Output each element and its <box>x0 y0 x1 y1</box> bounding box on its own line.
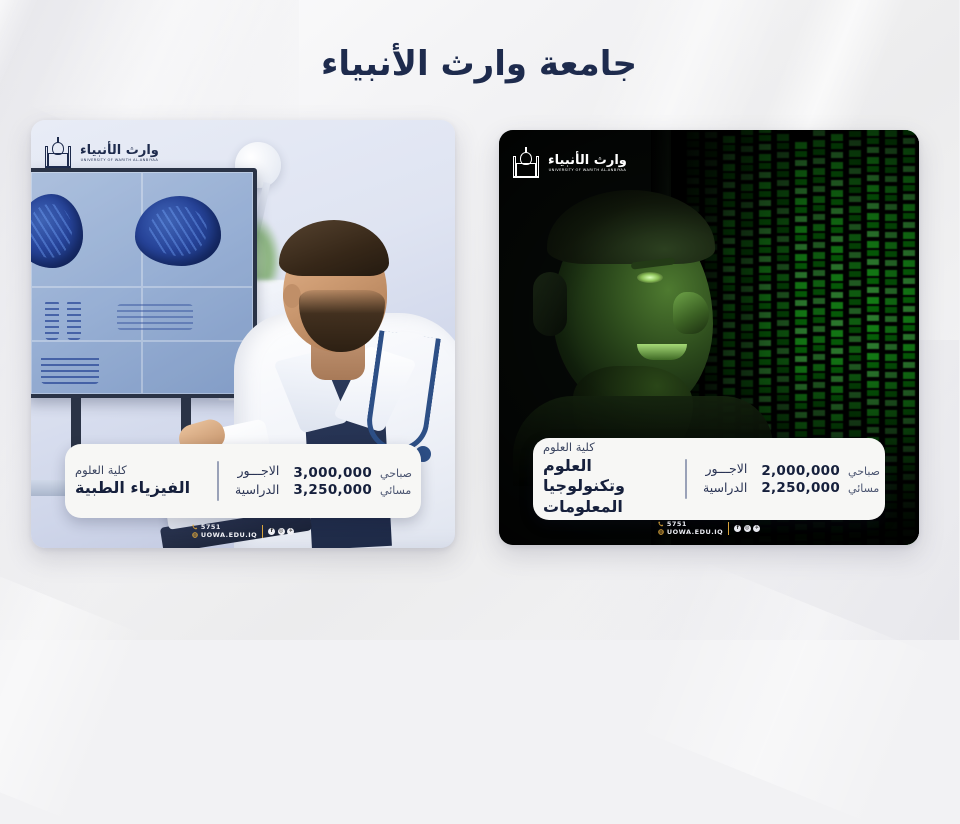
fees-label-line2: الدراسية <box>236 481 280 500</box>
logo-calligraphy-text: وارث الأنبياء <box>81 144 160 157</box>
page-title: جامعة وارث الأنبياء <box>0 44 960 84</box>
fees-label: الاجـــور الدراسية <box>236 462 280 500</box>
fee-row: 3,000,000 صباحي <box>294 465 413 481</box>
fee-shift: مسائي <box>381 484 412 497</box>
social-links: f ◎ ✈ <box>269 528 295 535</box>
logo-calligraphy: وارث الأنبياء UNIVERSITY OF WARITH AL-AN… <box>81 144 160 163</box>
hair <box>280 220 390 276</box>
fees-label-line2: الدراسية <box>704 479 748 498</box>
contact-details: 5751 UOWA.EDU.IQ <box>193 524 258 538</box>
faculty-label: كلية العلوم <box>76 463 200 479</box>
tuition-fees-block: الاجـــور الدراسية 2,000,000 صباحي 2,250… <box>688 460 897 498</box>
panel-divider <box>218 461 220 501</box>
logo-calligraphy-text: وارث الأنبياء <box>549 154 628 167</box>
shrine-dome-icon <box>514 148 540 178</box>
faculty-label: كلية العلوم <box>544 440 668 456</box>
program-title-block: كلية العلوم العلوم وتكنولوجيا المعلومات <box>534 440 686 518</box>
shrine-dome-icon <box>46 138 72 168</box>
dna-helix-icon <box>68 300 82 340</box>
dna-helix-icon <box>42 354 100 384</box>
fees-label-line1: الاجـــور <box>704 460 748 479</box>
university-logo: وارث الأنبياء UNIVERSITY OF WARITH AL-AN… <box>514 148 628 178</box>
fees-values: 3,000,000 صباحي 3,250,000 مسائي <box>294 465 413 498</box>
fee-row: 2,250,000 مسائي <box>762 480 881 496</box>
phone-icon <box>659 521 665 527</box>
website-url: UOWA.EDU.IQ <box>202 532 258 539</box>
panel-divider <box>686 459 688 499</box>
fee-amount: 3,250,000 <box>294 482 373 498</box>
telegram-icon[interactable]: ✈ <box>288 528 295 535</box>
fee-amount: 2,250,000 <box>762 480 841 496</box>
facebook-icon[interactable]: f <box>269 528 276 535</box>
phone-line[interactable]: 5751 <box>659 521 724 528</box>
program-info-panel: كلية العلوم الفيزياء الطبية الاجـــور ال… <box>66 444 422 518</box>
fee-shift: صباحي <box>849 465 881 478</box>
tuition-fees-block: الاجـــور الدراسية 3,000,000 صباحي 3,250… <box>220 462 429 500</box>
globe-icon <box>193 532 199 538</box>
telegram-icon[interactable]: ✈ <box>754 525 761 532</box>
contact-strip: 5751 UOWA.EDU.IQ f ◎ ✈ <box>193 524 295 538</box>
program-card-information-technology[interactable]: وارث الأنبياء UNIVERSITY OF WARITH AL-AN… <box>500 130 920 545</box>
department-label: الفيزياء الطبية <box>76 478 200 499</box>
website-url: UOWA.EDU.IQ <box>668 529 724 536</box>
contact-strip: 5751 UOWA.EDU.IQ f ◎ ✈ <box>659 521 761 535</box>
phone-icon <box>193 524 199 530</box>
logo-latin-subtitle: UNIVERSITY OF WARITH AL-ANBIYAA <box>82 159 160 163</box>
social-links: f ◎ ✈ <box>735 525 761 532</box>
fee-amount: 2,000,000 <box>762 463 841 479</box>
program-title-block: كلية العلوم الفيزياء الطبية <box>66 463 218 499</box>
fee-amount: 3,000,000 <box>294 465 373 481</box>
phone-line[interactable]: 5751 <box>193 524 258 531</box>
fee-row: 3,250,000 مسائي <box>294 482 413 498</box>
website-line[interactable]: UOWA.EDU.IQ <box>659 529 724 536</box>
fee-row: 2,000,000 صباحي <box>762 463 881 479</box>
contact-divider <box>263 525 264 538</box>
website-line[interactable]: UOWA.EDU.IQ <box>193 532 258 539</box>
program-card-medical-physics[interactable]: وارث الأنبياء UNIVERSITY OF WARITH AL-AN… <box>32 120 456 548</box>
logo-calligraphy: وارث الأنبياء UNIVERSITY OF WARITH AL-AN… <box>549 154 628 173</box>
dna-helix-icon <box>118 304 194 330</box>
dna-helix-icon <box>46 300 60 340</box>
facebook-icon[interactable]: f <box>735 525 742 532</box>
department-label: العلوم وتكنولوجيا المعلومات <box>544 456 668 518</box>
phone-number: 5751 <box>668 521 688 528</box>
program-info-panel: كلية العلوم العلوم وتكنولوجيا المعلومات … <box>534 438 886 520</box>
fees-label-line1: الاجـــور <box>236 462 280 481</box>
card-contact-footer: 5751 UOWA.EDU.IQ f ◎ ✈ <box>32 524 456 538</box>
card-contact-footer: 5751 UOWA.EDU.IQ f ◎ ✈ <box>500 521 920 535</box>
phone-number: 5751 <box>202 524 222 531</box>
contact-divider <box>729 522 730 535</box>
instagram-icon[interactable]: ◎ <box>279 528 286 535</box>
logo-latin-subtitle: UNIVERSITY OF WARITH AL-ANBIYAA <box>550 169 628 173</box>
fees-label: الاجـــور الدراسية <box>704 460 748 498</box>
fee-shift: صباحي <box>381 467 413 480</box>
fee-shift: مسائي <box>849 482 880 495</box>
instagram-icon[interactable]: ◎ <box>745 525 752 532</box>
brain-scan-icon <box>136 196 222 266</box>
fees-values: 2,000,000 صباحي 2,250,000 مسائي <box>762 463 881 496</box>
university-logo: وارث الأنبياء UNIVERSITY OF WARITH AL-AN… <box>46 138 160 168</box>
contact-details: 5751 UOWA.EDU.IQ <box>659 521 724 535</box>
globe-icon <box>659 529 665 535</box>
